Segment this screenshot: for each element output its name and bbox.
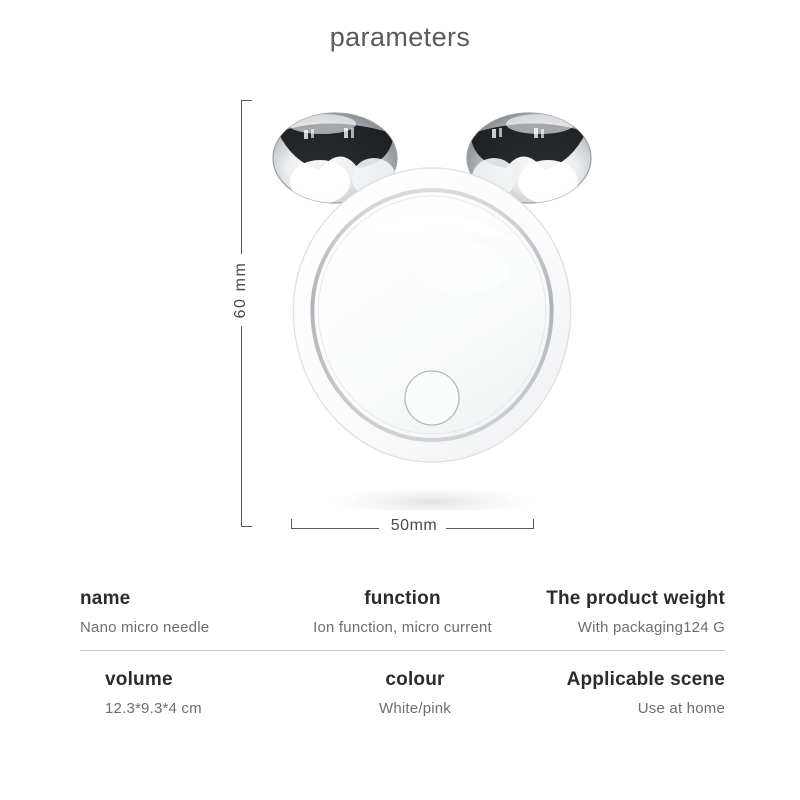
device-reflection bbox=[324, 486, 540, 510]
spec-cell-name: name Nano micro needle bbox=[80, 588, 295, 636]
device-illustration bbox=[262, 90, 602, 510]
spec-cell-product-weight: The product weight With packaging124 G bbox=[510, 588, 725, 636]
spec-value: With packaging124 G bbox=[578, 619, 725, 636]
spec-value: White/pink bbox=[379, 700, 451, 717]
product-figure: 60 mm bbox=[0, 85, 800, 555]
spec-value: Use at home bbox=[638, 700, 725, 717]
height-dimension-label: 60 mm bbox=[229, 254, 253, 326]
device-body bbox=[293, 168, 570, 462]
width-dimension-label: 50mm bbox=[374, 517, 454, 535]
width-dimension-cap-right bbox=[533, 519, 534, 529]
height-dimension: 60 mm bbox=[236, 100, 248, 527]
spec-cell-function: function Ion function, micro current bbox=[295, 588, 510, 636]
spec-value: 12.3*9.3*4 cm bbox=[105, 700, 202, 717]
spec-value: Ion function, micro current bbox=[313, 619, 492, 636]
spec-label: function bbox=[364, 588, 441, 610]
height-dimension-cap-top bbox=[241, 100, 252, 101]
width-dimension: 50mm bbox=[290, 517, 536, 539]
spec-cell-colour: colour White/pink bbox=[312, 669, 519, 717]
height-dimension-cap-bottom bbox=[241, 526, 252, 527]
spec-label: name bbox=[80, 588, 130, 610]
spec-value: Nano micro needle bbox=[80, 619, 209, 636]
spec-row-1: name Nano micro needle function Ion func… bbox=[80, 588, 725, 650]
spec-cell-applicable-scene: Applicable scene Use at home bbox=[518, 669, 725, 717]
spec-table: name Nano micro needle function Ion func… bbox=[80, 588, 725, 733]
power-button bbox=[405, 371, 459, 425]
spec-row-2: volume 12.3*9.3*4 cm colour White/pink A… bbox=[80, 651, 725, 733]
spec-label: colour bbox=[385, 669, 444, 691]
width-dimension-line-left bbox=[291, 528, 379, 529]
spec-label: Applicable scene bbox=[567, 669, 725, 691]
spec-label: volume bbox=[105, 669, 173, 691]
spec-cell-volume: volume 12.3*9.3*4 cm bbox=[80, 669, 312, 717]
spec-label: The product weight bbox=[546, 588, 725, 610]
width-dimension-line-right bbox=[446, 528, 534, 529]
page-title: parameters bbox=[0, 22, 800, 53]
